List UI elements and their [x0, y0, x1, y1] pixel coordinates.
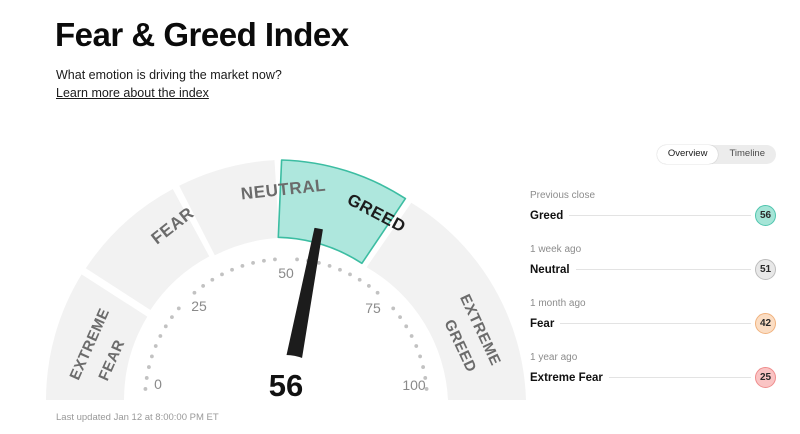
reading-rule: [569, 215, 751, 216]
gauge-tick-dot: [338, 268, 342, 272]
gauge-tick-dot: [414, 344, 418, 348]
gauge-tick-dot: [170, 315, 174, 319]
gauge-scale-25: 25: [191, 298, 207, 314]
gauge-scale-100: 100: [402, 377, 426, 393]
reading-rating: Greed: [530, 210, 569, 222]
list-item[interactable]: 1 month ago Fear 42: [530, 298, 776, 352]
gauge-tick-dot: [398, 315, 402, 319]
reading-score-badge: 42: [755, 313, 776, 334]
gauge-tick-dot: [210, 278, 214, 282]
reading-rating: Fear: [530, 318, 560, 330]
view-toggle[interactable]: Overview Timeline: [657, 145, 776, 164]
reading-score-badge: 51: [755, 259, 776, 280]
gauge-tick-dot: [262, 259, 266, 263]
reading-score-badge: 56: [755, 205, 776, 226]
list-item[interactable]: 1 week ago Neutral 51: [530, 244, 776, 298]
fear-greed-gauge: EXTREME FEAR FEAR NEUTRAL GREED EXTREME …: [36, 150, 536, 412]
reading-rule: [609, 377, 751, 378]
gauge-tick-dot: [421, 365, 425, 369]
gauge-tick-dot: [295, 258, 299, 262]
learn-more-link[interactable]: Learn more about the index: [56, 86, 209, 100]
gauge-tick-dot: [358, 278, 362, 282]
historical-readings-list: Previous close Greed 56 1 week ago Neutr…: [530, 190, 776, 406]
page-subtitle: What emotion is driving the market now?: [56, 68, 282, 82]
gauge-tick-dot: [147, 365, 151, 369]
gauge-tick-dot: [158, 334, 162, 338]
reading-rating: Neutral: [530, 264, 576, 276]
toggle-option-overview[interactable]: Overview: [657, 145, 719, 164]
last-updated-text: Last updated Jan 12 at 8:00:00 PM ET: [56, 412, 219, 423]
gauge-segment-extreme-greed: [367, 203, 526, 400]
reading-rule: [576, 269, 751, 270]
gauge-tick-dot: [348, 272, 352, 276]
reading-rating: Extreme Fear: [530, 372, 609, 384]
gauge-svg: EXTREME FEAR FEAR NEUTRAL GREED EXTREME …: [36, 150, 536, 412]
gauge-tick-dot: [241, 264, 245, 268]
gauge-tick-dot: [144, 387, 148, 391]
gauge-tick-dot: [273, 258, 277, 262]
page-title: Fear & Greed Index: [55, 16, 349, 54]
list-item[interactable]: 1 year ago Extreme Fear 25: [530, 352, 776, 406]
gauge-tick-dot: [145, 376, 149, 380]
reading-period: 1 week ago: [530, 244, 776, 256]
gauge-tick-dot: [251, 261, 255, 265]
gauge-value: 56: [269, 368, 303, 403]
gauge-tick-dot: [164, 324, 168, 328]
gauge-tick-dot: [220, 272, 224, 276]
gauge-tick-dot: [391, 307, 395, 311]
toggle-option-timeline[interactable]: Timeline: [718, 145, 776, 164]
gauge-tick-dot: [410, 334, 414, 338]
reading-score-badge: 25: [755, 367, 776, 388]
gauge-tick-dot: [418, 355, 422, 359]
gauge-scale-50: 50: [278, 265, 294, 281]
gauge-scale-0: 0: [154, 376, 162, 392]
gauge-tick-dot: [150, 355, 154, 359]
gauge-tick-dot: [230, 268, 234, 272]
gauge-tick-dot: [328, 264, 332, 268]
gauge-tick-dot: [177, 307, 181, 311]
gauge-tick-dot: [154, 344, 158, 348]
list-item[interactable]: Previous close Greed 56: [530, 190, 776, 244]
gauge-tick-dot: [404, 324, 408, 328]
reading-period: Previous close: [530, 190, 776, 202]
gauge-needle: [287, 228, 326, 358]
gauge-tick-dot: [193, 291, 197, 295]
reading-period: 1 year ago: [530, 352, 776, 364]
reading-rule: [560, 323, 751, 324]
gauge-scale-75: 75: [365, 300, 381, 316]
gauge-tick-dot: [367, 284, 371, 288]
gauge-tick-dot: [376, 291, 380, 295]
reading-period: 1 month ago: [530, 298, 776, 310]
gauge-tick-dot: [201, 284, 205, 288]
